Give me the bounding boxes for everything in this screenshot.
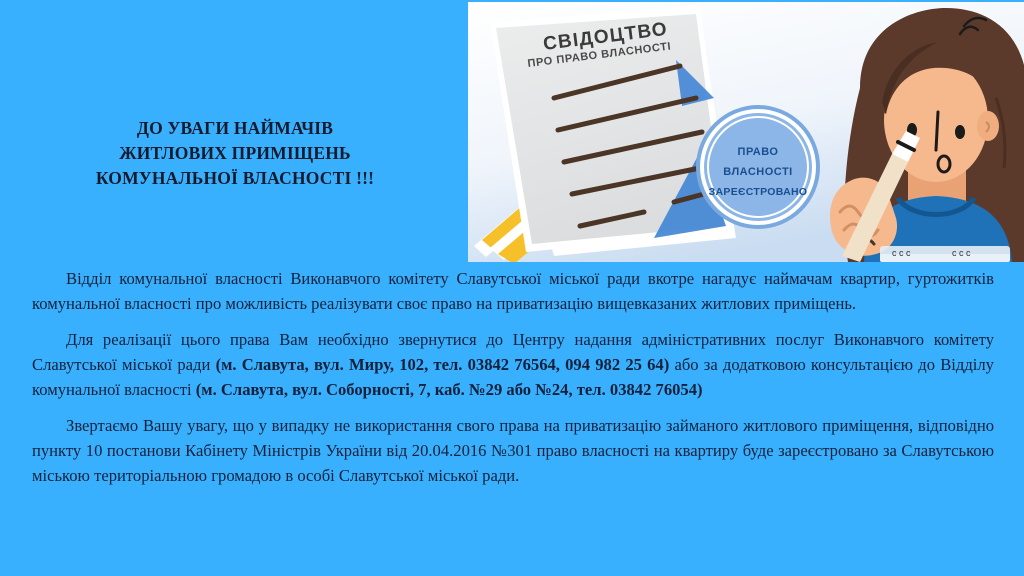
keyboard-detail: c c c c c c — [880, 246, 1010, 262]
page-title-line-1: ДО УВАГИ НАЙМАЧІВ — [30, 116, 440, 141]
cnap-address: (м. Славута, вул. Миру, 102, тел. 03842 … — [216, 355, 670, 374]
paragraph-3: Звертаємо Вашу увагу, що у випадку не ви… — [32, 413, 994, 488]
announcement-page: ДО УВАГИ НАЙМАЧІВ ЖИТЛОВИХ ПРИМІЩЕНЬ КОМ… — [0, 0, 1024, 576]
page-title-line-2: ЖИТЛОВИХ ПРИМІЩЕНЬ — [30, 141, 440, 166]
svg-text:c c c: c c c — [952, 248, 971, 258]
svg-text:c c c: c c c — [892, 248, 911, 258]
seal-line-1: ПРАВО — [738, 146, 779, 158]
seal-line-2: ВЛАСНОСТІ — [723, 166, 792, 178]
certificate-document: СВІДОЦТВО ПРО ПРАВО ВЛАСНОСТІ — [490, 6, 730, 252]
page-title: ДО УВАГИ НАЙМАЧІВ ЖИТЛОВИХ ПРИМІЩЕНЬ КОМ… — [30, 116, 440, 191]
paragraph-2: Для реалізації цього права Вам необхідно… — [32, 327, 994, 402]
registration-seal-icon: ПРАВО ВЛАСНОСТІ ЗАРЕЄСТРОВАНО — [696, 105, 820, 229]
seal-line-3: ЗАРЕЄСТРОВАНО — [709, 186, 808, 198]
property-certificate-illustration: СВІДОЦТВО ПРО ПРАВО ВЛАСНОСТІ — [468, 2, 1024, 262]
announcement-body: Відділ комунальної власності Виконавчого… — [32, 266, 994, 488]
department-address: (м. Славута, вул. Соборності, 7, каб. №2… — [196, 380, 703, 399]
paragraph-1: Відділ комунальної власності Виконавчого… — [32, 266, 994, 316]
illustration-artwork: СВІДОЦТВО ПРО ПРАВО ВЛАСНОСТІ — [468, 2, 1024, 262]
page-title-line-3: КОМУНАЛЬНОЇ ВЛАСНОСТІ !!! — [30, 166, 440, 191]
